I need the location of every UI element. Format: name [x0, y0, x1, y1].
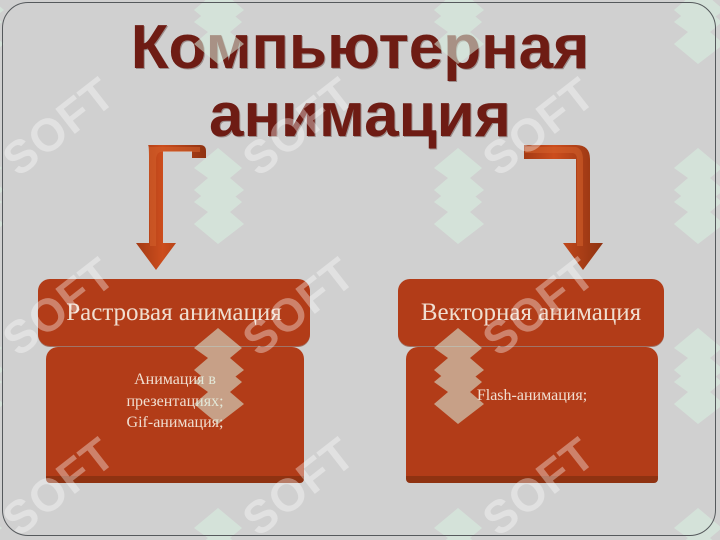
presentation-slide: SOFTSOFTSOFTSOFTSOFTSOFTSOFTSOFTSOFTSOFT…: [0, 0, 720, 540]
branch-body-box-vektornaya[interactable]: Flash-анимация;: [406, 347, 658, 483]
page-title: Компьютерная анимация: [30, 14, 690, 150]
branch-heading-label-rasternaya: Растровая анимация: [58, 299, 290, 327]
arrow-left: [136, 145, 206, 270]
branch-heading-box-rasternaya[interactable]: Растровая анимация: [38, 279, 310, 346]
branch-body-box-rasternaya[interactable]: Анимация в презентациях; Gif-анимация;: [46, 347, 304, 483]
branch-heading-label-vektornaya: Векторная анимация: [413, 299, 649, 327]
branch-heading-box-vektornaya[interactable]: Векторная анимация: [398, 279, 664, 346]
branch-body-label-rasternaya: Анимация в презентациях; Gif-анимация;: [112, 347, 237, 434]
branch-body-label-vektornaya: Flash-анимация;: [463, 347, 601, 407]
arrow-right: [524, 145, 603, 270]
